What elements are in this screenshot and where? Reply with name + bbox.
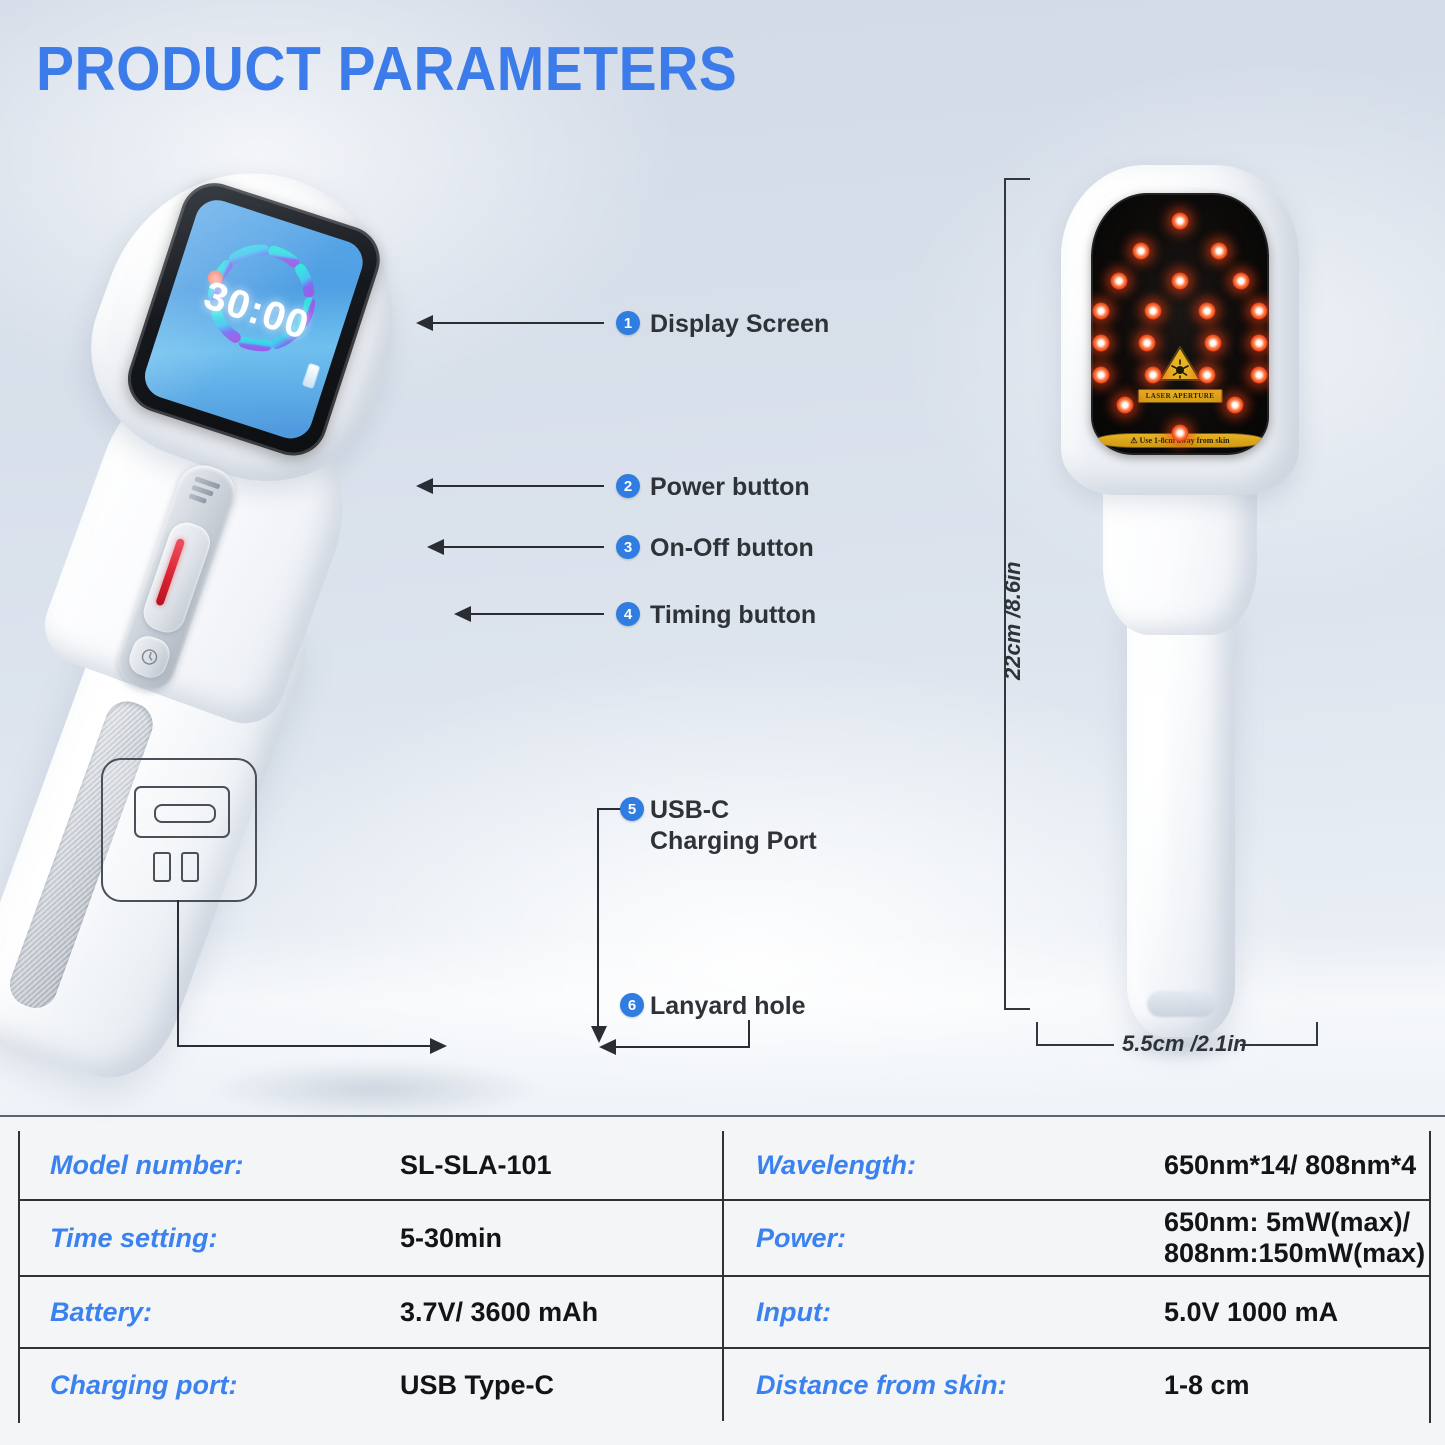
spec-table: Model number: SL-SLA-101 Wavelength: 650… xyxy=(18,1131,1431,1423)
callout-2-label: Power button xyxy=(650,472,810,503)
usb-pin-right xyxy=(181,852,199,882)
usb-inset-arrow xyxy=(430,1038,447,1054)
height-tick-top xyxy=(1004,178,1030,180)
width-tick-right xyxy=(1316,1022,1318,1046)
timing-button[interactable] xyxy=(125,632,174,682)
laser-led xyxy=(1117,397,1134,414)
laser-led xyxy=(1172,425,1189,442)
callout-3-badge: 3 xyxy=(616,535,640,559)
table-cell-right: Wavelength: 650nm*14/ 808nm*4 xyxy=(724,1131,1427,1199)
laser-led-panel: LASER APERTURE ⚠ Use 1-8cm away from ski… xyxy=(1091,193,1269,455)
table-cell-left: Model number: SL-SLA-101 xyxy=(20,1131,724,1199)
callout-6-leader-v xyxy=(748,1020,750,1048)
callout-5-label: USB-C Charging Port xyxy=(650,795,817,857)
callout-1-badge: 1 xyxy=(616,311,640,335)
laser-led xyxy=(1251,335,1268,352)
page-title: PRODUCT PARAMETERS xyxy=(36,34,737,106)
table-cell-left: Battery: 3.7V/ 3600 mAh xyxy=(20,1277,724,1347)
laser-led xyxy=(1227,397,1244,414)
spec-key: Charging port: xyxy=(50,1370,400,1401)
width-dimension-label: 5.5cm /2.1in xyxy=(1122,1031,1247,1057)
laser-led xyxy=(1145,303,1162,320)
spec-value: 650nm*14/ 808nm*4 xyxy=(1164,1150,1416,1181)
table-cell-right: Input: 5.0V 1000 mA xyxy=(724,1277,1427,1347)
callout-3-leader xyxy=(443,546,604,548)
laser-led xyxy=(1199,303,1216,320)
height-dimension-label: 22cm /8.6in xyxy=(1000,561,1026,680)
table-cell-right: Power: 650nm: 5mW(max)/ 808nm:150mW(max) xyxy=(724,1201,1427,1275)
laser-led xyxy=(1145,367,1162,384)
callout-1-leader xyxy=(432,322,604,324)
callout-2-arrow xyxy=(416,478,433,494)
usb-c-connector-shape xyxy=(154,804,216,823)
spec-value: 5-30min xyxy=(400,1223,502,1254)
table-row: Charging port: USB Type-C Distance from … xyxy=(20,1349,1429,1421)
callout-4-badge: 4 xyxy=(616,602,640,626)
height-tick-bottom xyxy=(1004,1008,1030,1010)
usb-inset-leader-h xyxy=(177,1045,432,1047)
callout-2-badge: 2 xyxy=(616,474,640,498)
spec-value: 5.0V 1000 mA xyxy=(1164,1297,1338,1328)
callout-6-label: Lanyard hole xyxy=(650,991,806,1022)
laser-led xyxy=(1251,303,1268,320)
table-row: Battery: 3.7V/ 3600 mAh Input: 5.0V 1000… xyxy=(20,1277,1429,1349)
laser-led xyxy=(1205,335,1222,352)
table-row: Model number: SL-SLA-101 Wavelength: 650… xyxy=(20,1131,1429,1201)
usb-c-port-icon xyxy=(134,786,230,838)
spec-value: USB Type-C xyxy=(400,1370,554,1401)
laser-led xyxy=(1251,367,1268,384)
spec-value: SL-SLA-101 xyxy=(400,1150,552,1181)
laser-led xyxy=(1172,273,1189,290)
laser-led xyxy=(1093,367,1110,384)
callout-1-label: Display Screen xyxy=(650,309,829,340)
laser-led xyxy=(1133,243,1150,260)
laser-led xyxy=(1093,335,1110,352)
battery-bars-icon xyxy=(185,476,224,516)
callout-3-label: On-Off button xyxy=(650,533,814,564)
table-cell-right: Distance from skin: 1-8 cm xyxy=(724,1349,1427,1421)
laser-led xyxy=(1111,273,1128,290)
callout-5-leader-v xyxy=(597,808,599,1026)
laser-led xyxy=(1199,367,1216,384)
laser-hazard-icon xyxy=(1158,345,1202,383)
callout-4-label: Timing button xyxy=(650,600,816,631)
callout-3-arrow xyxy=(427,539,444,555)
table-cell-left: Charging port: USB Type-C xyxy=(20,1349,724,1421)
usb-inset-leader-v xyxy=(177,900,179,1046)
width-dimension-line-left xyxy=(1036,1044,1114,1046)
product-parameters-page: PRODUCT PARAMETERS xyxy=(0,0,1445,1445)
spec-key: Input: xyxy=(756,1297,1164,1328)
laser-led xyxy=(1233,273,1250,290)
handle-foot xyxy=(1147,991,1215,1017)
callout-4-leader xyxy=(470,613,604,615)
power-timer-icon xyxy=(137,644,162,669)
usb-c-port-inset xyxy=(101,758,257,902)
spec-key: Time setting: xyxy=(50,1223,400,1254)
callout-4-arrow xyxy=(454,606,471,622)
spec-value: 650nm: 5mW(max)/ 808nm:150mW(max) xyxy=(1164,1207,1425,1269)
spec-key: Power: xyxy=(756,1223,1164,1254)
callout-6-leader-h xyxy=(615,1046,750,1048)
spec-key: Distance from skin: xyxy=(756,1370,1164,1401)
callout-5-badge: 5 xyxy=(620,797,644,821)
laser-led xyxy=(1211,243,1228,260)
handle-highlight-right xyxy=(1141,625,1167,1005)
laser-led xyxy=(1093,303,1110,320)
spec-key: Wavelength: xyxy=(756,1150,1164,1181)
spec-value: 3.7V/ 3600 mAh xyxy=(400,1297,598,1328)
callout-6-badge: 6 xyxy=(620,993,644,1017)
device-front-view: LASER APERTURE ⚠ Use 1-8cm away from ski… xyxy=(1055,165,1305,1050)
device-angled-view: 30:00 xyxy=(55,160,675,1100)
width-tick-left xyxy=(1036,1022,1038,1046)
spec-key: Battery: xyxy=(50,1297,400,1328)
table-cell-left: Time setting: 5-30min xyxy=(20,1201,724,1275)
spec-key: Model number: xyxy=(50,1150,400,1181)
spec-value: 1-8 cm xyxy=(1164,1370,1250,1401)
table-row: Time setting: 5-30min Power: 650nm: 5mW(… xyxy=(20,1201,1429,1277)
laser-led xyxy=(1139,335,1156,352)
laser-aperture-label: LASER APERTURE xyxy=(1138,389,1223,403)
callout-1-arrow xyxy=(416,315,433,331)
laser-led xyxy=(1172,213,1189,230)
callout-6-arrow xyxy=(599,1039,616,1055)
width-dimension-line-right xyxy=(1240,1044,1318,1046)
usb-pin-left xyxy=(153,852,171,882)
callout-2-leader xyxy=(432,485,604,487)
